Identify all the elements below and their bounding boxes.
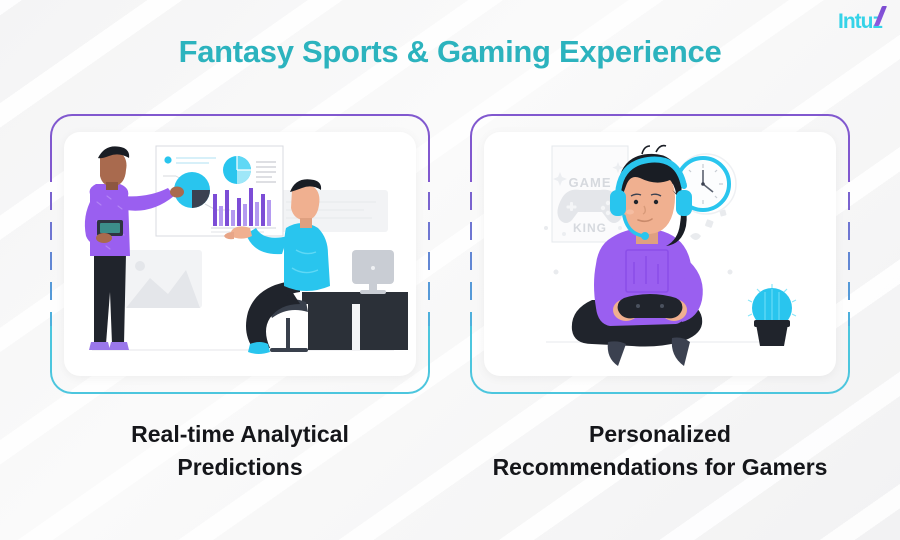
card-gamer[interactable]: GAME KING bbox=[470, 114, 850, 394]
poster-text-game: GAME bbox=[569, 175, 612, 190]
caption-gamer-line1: Personalized bbox=[460, 418, 860, 451]
seated-neck bbox=[300, 218, 312, 228]
card-border-right bbox=[428, 136, 430, 372]
poster-text-king: KING bbox=[573, 221, 607, 235]
headset-earcup-right bbox=[676, 190, 692, 216]
card-corner-bottom-left bbox=[50, 370, 74, 394]
presenter-legs bbox=[94, 254, 126, 344]
card-corner-bottom-left bbox=[470, 370, 494, 394]
presenter-shoe-left bbox=[89, 342, 110, 350]
card-corner-bottom-right bbox=[826, 370, 850, 394]
logo-main-text: Intu bbox=[838, 10, 872, 34]
card-analytics[interactable] bbox=[50, 114, 430, 394]
intuz-logo: Intu z bbox=[838, 10, 882, 34]
pie-chart bbox=[223, 156, 251, 184]
desk-panel-left bbox=[308, 304, 352, 350]
headset-earcup-left bbox=[610, 190, 626, 216]
card-corner-bottom-right bbox=[406, 370, 430, 394]
clock-center-pin bbox=[701, 182, 705, 186]
caption-gamer: Personalized Recommendations for Gamers bbox=[460, 418, 860, 483]
cactus-pot-rim bbox=[754, 320, 790, 327]
seated-shoe bbox=[248, 342, 270, 354]
presenter-neck bbox=[106, 182, 118, 190]
headset-mic-tip bbox=[641, 232, 649, 240]
cactus-pot bbox=[756, 324, 788, 346]
analytics-presentation-illustration bbox=[64, 132, 416, 376]
game-controller-icon bbox=[618, 294, 683, 318]
presenter-hand-left bbox=[96, 233, 112, 243]
gamer-illustration-panel: GAME KING bbox=[484, 132, 836, 376]
desk-gap bbox=[352, 304, 360, 350]
monitor-dot-icon bbox=[371, 266, 375, 270]
tablet-screen bbox=[100, 223, 120, 233]
monitor-base bbox=[360, 290, 386, 294]
card-border-left bbox=[470, 136, 472, 372]
caption-analytics-line1: Real-time Analytical bbox=[50, 418, 430, 451]
caption-gamer-line2: Recommendations for Gamers bbox=[460, 451, 860, 484]
seated-shirt bbox=[284, 223, 330, 291]
gamer-blush bbox=[626, 210, 634, 215]
legend-dot-icon bbox=[164, 156, 171, 163]
card-border-bottom bbox=[72, 392, 408, 394]
gamer-foot-right bbox=[672, 338, 690, 367]
controller-stick-right bbox=[660, 304, 664, 308]
desk-top bbox=[302, 292, 408, 304]
bg-sun-icon bbox=[135, 261, 145, 271]
presenter-hand-right bbox=[170, 187, 184, 198]
gamer-foot-left bbox=[608, 341, 626, 366]
potted-cactus bbox=[748, 284, 796, 346]
desk-panel-right bbox=[360, 304, 408, 350]
card-border-left bbox=[50, 136, 52, 372]
card-border-bottom bbox=[492, 392, 828, 394]
logo-accent-text: z bbox=[873, 10, 883, 34]
page-title: Fantasy Sports & Gaming Experience bbox=[0, 34, 900, 70]
caption-analytics-line2: Predictions bbox=[50, 451, 430, 484]
analytics-illustration-panel bbox=[64, 132, 416, 376]
chair-base bbox=[270, 348, 308, 352]
caption-analytics: Real-time Analytical Predictions bbox=[50, 418, 430, 483]
chair-post bbox=[286, 318, 290, 350]
presenter-shoe-right bbox=[109, 342, 129, 350]
controller-stick-left bbox=[636, 304, 640, 308]
slide-canvas: Intu z Fantasy Sports & Gaming Experienc… bbox=[0, 0, 900, 540]
hair-strands bbox=[642, 146, 666, 154]
card-border-right bbox=[848, 136, 850, 372]
card-border-top bbox=[492, 114, 828, 116]
card-border-top bbox=[72, 114, 408, 116]
gamer-with-headset-illustration: GAME KING bbox=[484, 132, 836, 376]
